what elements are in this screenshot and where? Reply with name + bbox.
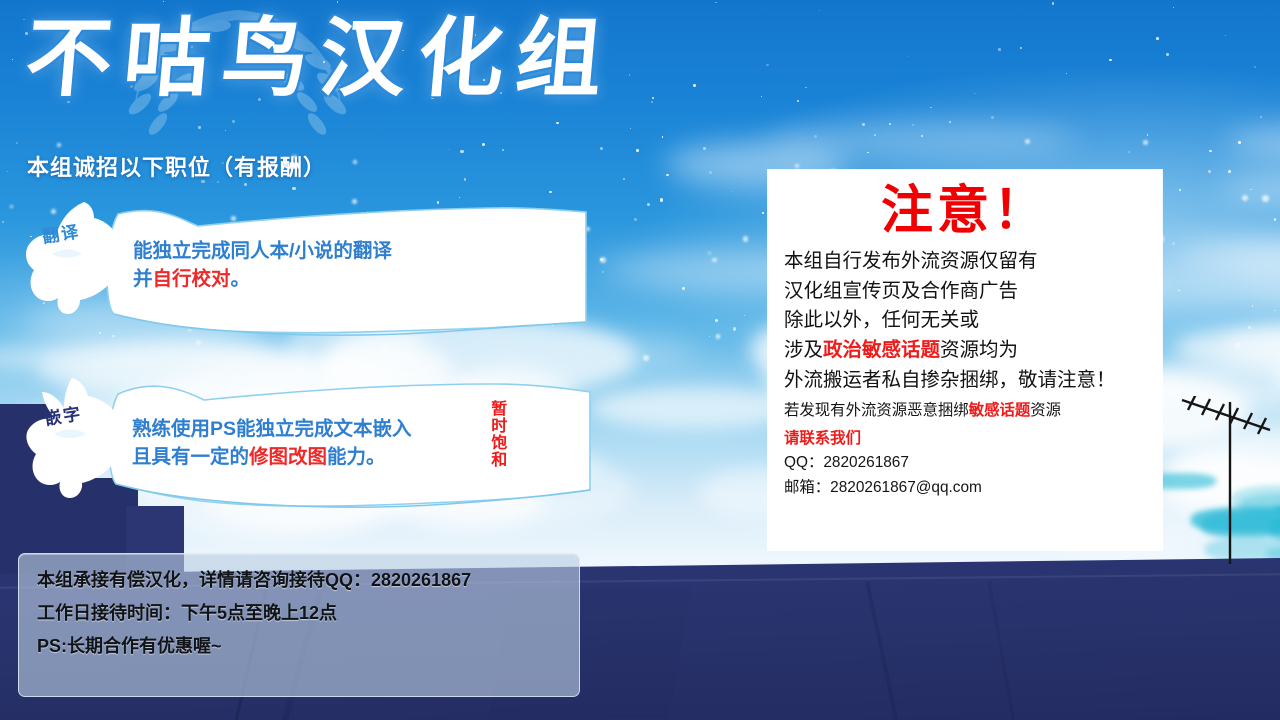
job-line2-highlight-1: 修图改图 — [249, 446, 327, 468]
notice-line-3-suffix: 资源均为 — [940, 339, 1018, 361]
service-info-box: 本组承接有偿汉化，详情请咨询接待QQ：2820261867 工作日接待时间：下午… — [18, 553, 580, 697]
job-line2-suffix-0: 。 — [231, 268, 251, 290]
job-banner-translation: 翻译 能独立完成同人本/小说的翻译 并自行校对。 — [18, 196, 618, 356]
notice-contact-call: 请联系我们 — [784, 427, 1162, 451]
job-banner-typesetting: 嵌字 熟练使用PS能独立完成文本嵌入 且具有一定的修图改图能力。 暂时饱和 — [18, 372, 618, 524]
notice-line-3: 涉及政治敏感话题资源均为 — [784, 336, 1162, 366]
notice-warning-line: 若发现有外流资源恶意捆绑敏感话题资源 — [784, 399, 1162, 423]
service-info-line-1: 本组承接有偿汉化，详情请咨询接待QQ：2820261867 — [37, 571, 471, 589]
notice-line-4: 外流搬运者私自掺杂捆绑，敬请注意！ — [784, 366, 1162, 396]
job-line2-prefix-1: 且具有一定的 — [132, 446, 249, 468]
notice-body: 本组自行发布外流资源仅留有 汉化组宣传页及合作商广告 除此以外，任何无关或 涉及… — [784, 247, 1162, 395]
notice-line-3-prefix: 涉及 — [784, 339, 823, 361]
notice-warning-suffix: 资源 — [1030, 402, 1061, 419]
job-requirement-text-0: 能独立完成同人本/小说的翻译 并自行校对。 — [133, 238, 392, 293]
dove-icon — [22, 198, 134, 316]
notice-panel: 注意！ 本组自行发布外流资源仅留有 汉化组宣传页及合作商广告 除此以外，任何无关… — [768, 170, 1162, 550]
job-line2-highlight-0: 自行校对 — [153, 268, 231, 290]
tv-antenna-icon — [1178, 396, 1274, 566]
notice-line-3-highlight: 政治敏感话题 — [823, 339, 940, 361]
notice-line-1: 汉化组宣传页及合作商广告 — [784, 277, 1162, 307]
job-line1-1: 熟练使用PS能独立完成文本嵌入 — [132, 418, 412, 440]
service-info-line-3: PS:长期合作有优惠喔~ — [37, 637, 222, 655]
notice-title: 注意！ — [768, 184, 1162, 239]
job-line2-suffix-1: 能力。 — [327, 446, 386, 468]
dove-icon — [20, 372, 138, 500]
job-requirement-text-1: 熟练使用PS能独立完成文本嵌入 且具有一定的修图改图能力。 — [132, 416, 412, 471]
notice-line-2: 除此以外，任何无关或 — [784, 306, 1162, 336]
notice-qq: QQ：2820261867 — [784, 451, 1162, 476]
job-line1-0: 能独立完成同人本/小说的翻译 — [133, 240, 392, 262]
poster-root: 不咕鸟汉化组 本组诚招以下职位（有报酬） 翻译 能独立完成同人本/小说的翻译 并… — [0, 0, 1280, 720]
job-line2-prefix-0: 并 — [133, 268, 153, 290]
notice-line-0: 本组自行发布外流资源仅留有 — [784, 247, 1162, 277]
job-status-note: 暂时饱和 — [488, 400, 505, 468]
recruit-subtitle: 本组诚招以下职位（有报酬） — [27, 150, 326, 182]
service-info-line-2: 工作日接待时间：下午5点至晚上12点 — [37, 604, 337, 622]
page-title: 不咕鸟汉化组 — [22, 16, 618, 102]
notice-warning-highlight: 敏感话题 — [969, 402, 1031, 419]
notice-email: 邮箱：2820261867@qq.com — [784, 476, 1162, 501]
notice-warning-prefix: 若发现有外流资源恶意捆绑 — [784, 402, 969, 419]
